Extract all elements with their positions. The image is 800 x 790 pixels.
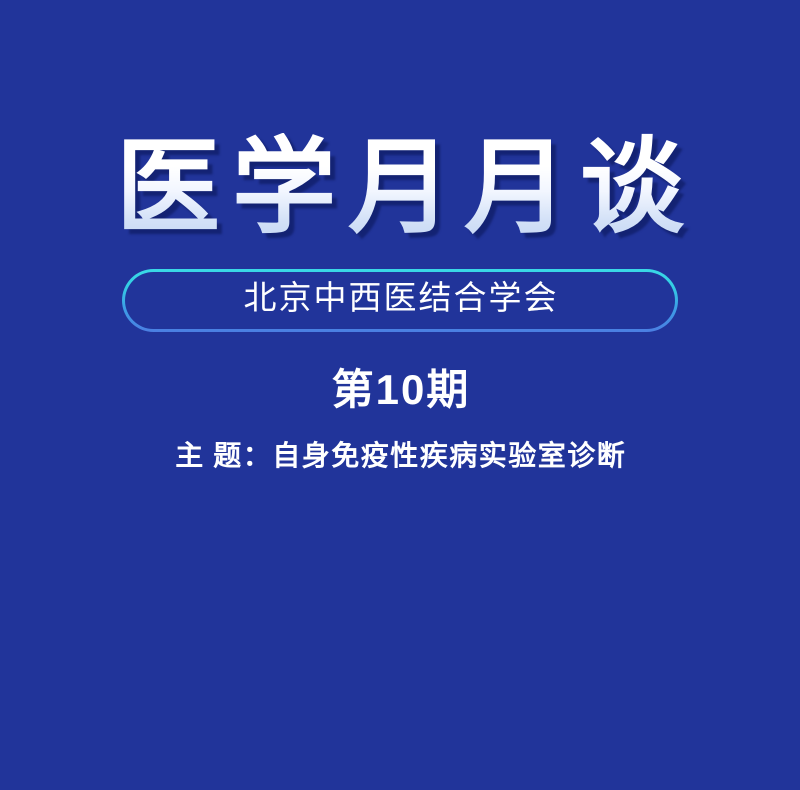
page-title: 医学月月谈 [104,133,696,245]
poster-title-container: 医学月月谈 [0,133,800,245]
organization-name: 北京中西医结合学会 [242,283,559,318]
poster-canvas: 医学月月谈 北京中西医结合学会 第10期 主 题：自身免疫性疾病实验室诊断 [0,0,800,790]
theme-line: 主 题：自身免疫性疾病实验室诊断 [0,441,800,473]
organization-pill-inner: 北京中西医结合学会 [125,272,675,329]
organization-pill: 北京中西医结合学会 [122,269,678,332]
issue-number: 第10期 [0,368,800,412]
